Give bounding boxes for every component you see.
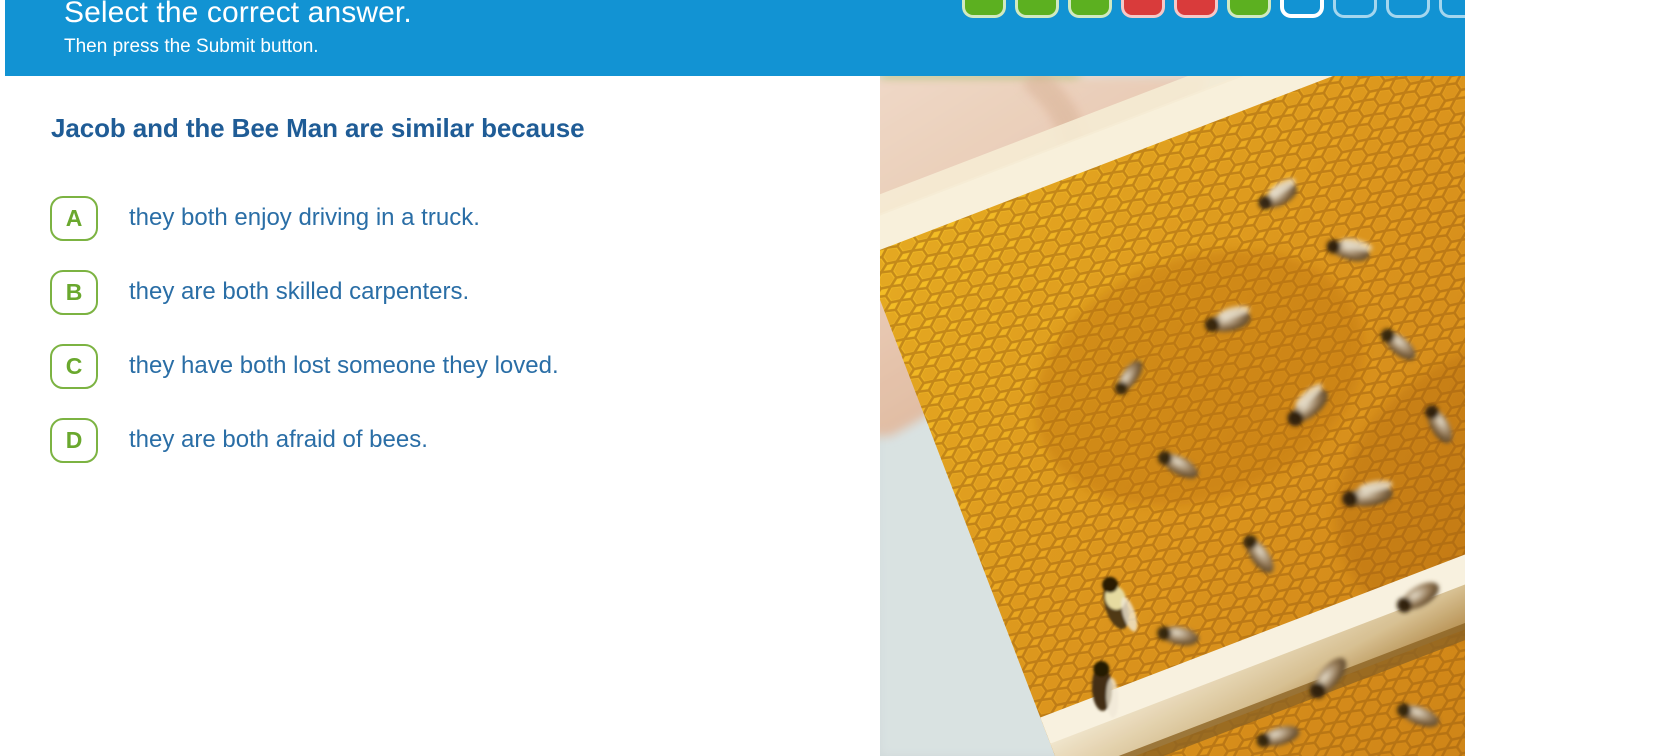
answer-badge-b[interactable]: B	[50, 270, 98, 315]
quiz-stage: Select the correct answer. Then press th…	[5, 0, 1465, 756]
answer-text-d[interactable]: they are both afraid of bees.	[129, 426, 428, 454]
instruction-subtitle: Then press the Submit button.	[64, 35, 884, 59]
instruction-title: Select the correct answer.	[64, 0, 884, 30]
progress-tracker	[962, 0, 1465, 18]
honeycomb-bees-photo	[880, 76, 1465, 756]
progress-box-7	[1280, 0, 1324, 18]
answer-option-c[interactable]: Cthey have both lost someone they loved.	[50, 342, 850, 390]
progress-box-9	[1386, 0, 1430, 18]
quiz-screen: Select the correct answer. Then press th…	[0, 0, 1673, 756]
question-image	[880, 76, 1465, 756]
answer-text-a[interactable]: they both enjoy driving in a truck.	[129, 204, 480, 232]
progress-box-1	[962, 0, 1006, 18]
progress-box-6	[1227, 0, 1271, 18]
answer-options-list: Athey both enjoy driving in a truck.Bthe…	[50, 194, 850, 490]
question-panel: Jacob and the Bee Man are similar becaus…	[5, 76, 880, 756]
answer-text-b[interactable]: they are both skilled carpenters.	[129, 278, 469, 306]
answer-option-b[interactable]: Bthey are both skilled carpenters.	[50, 268, 850, 316]
answer-badge-d[interactable]: D	[50, 418, 98, 463]
answer-badge-a[interactable]: A	[50, 196, 98, 241]
question-text: Jacob and the Bee Man are similar becaus…	[51, 112, 841, 144]
answer-badge-c[interactable]: C	[50, 344, 98, 389]
progress-box-4	[1121, 0, 1165, 18]
progress-box-5	[1174, 0, 1218, 18]
answer-text-c[interactable]: they have both lost someone they loved.	[129, 352, 559, 380]
instruction-text-block: Select the correct answer. Then press th…	[64, 0, 884, 59]
progress-box-10	[1439, 0, 1465, 18]
progress-box-8	[1333, 0, 1377, 18]
progress-box-3	[1068, 0, 1112, 18]
answer-option-d[interactable]: Dthey are both afraid of bees.	[50, 416, 850, 464]
progress-box-2	[1015, 0, 1059, 18]
instruction-header: Select the correct answer. Then press th…	[5, 0, 1465, 76]
answer-option-a[interactable]: Athey both enjoy driving in a truck.	[50, 194, 850, 242]
